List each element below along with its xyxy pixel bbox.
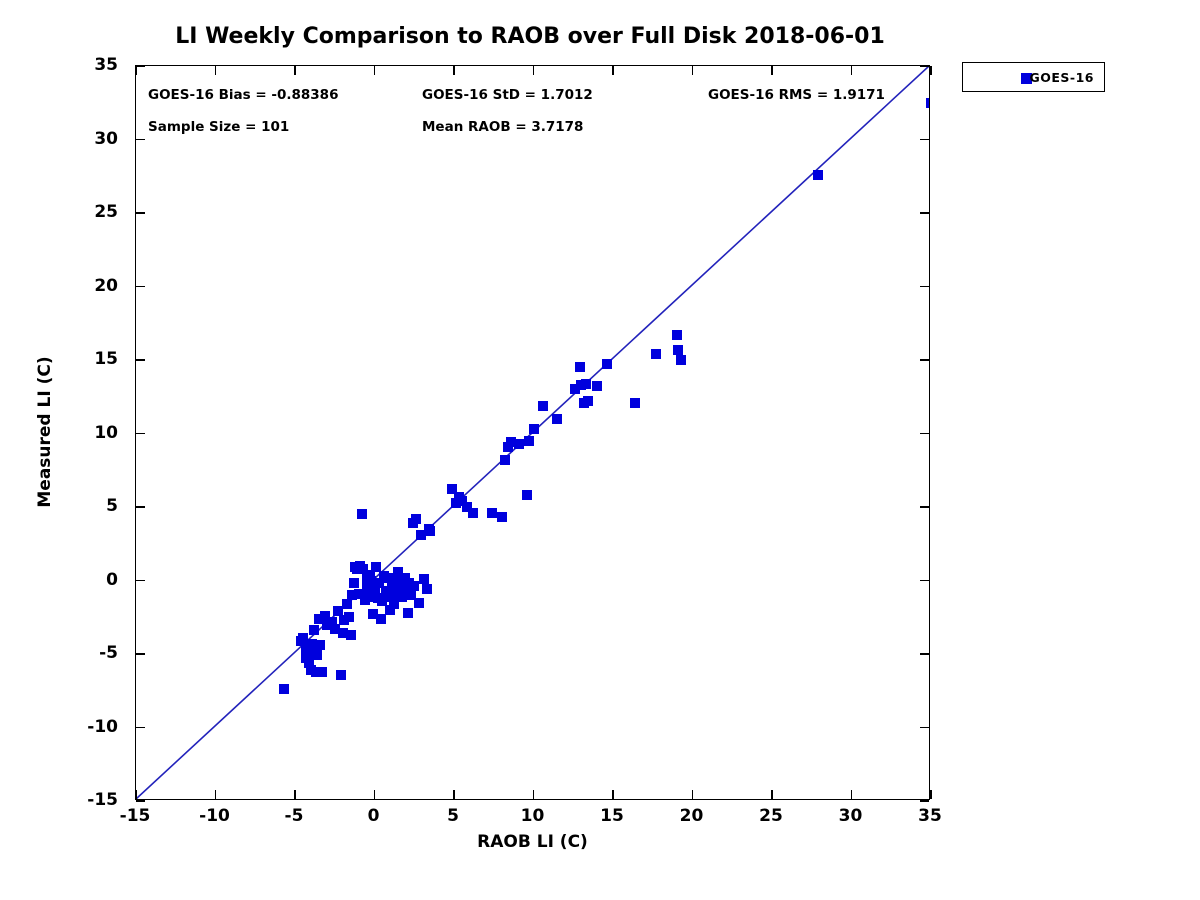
data-point xyxy=(813,170,823,180)
y-tick-20 xyxy=(136,286,145,288)
x-tick--5 xyxy=(294,790,296,799)
y-ticklabel-5: 5 xyxy=(106,496,118,516)
y-ticklabel-35: 35 xyxy=(94,55,118,75)
y-ticklabel--15: -15 xyxy=(87,790,118,810)
data-point xyxy=(672,330,682,340)
data-point xyxy=(529,424,539,434)
data-point xyxy=(926,98,929,108)
data-point xyxy=(409,581,419,591)
data-point xyxy=(349,578,359,588)
x-ticklabel--10: -10 xyxy=(199,806,230,826)
y-tick-30 xyxy=(920,139,929,141)
x-tick--15 xyxy=(135,790,137,799)
data-point xyxy=(403,608,413,618)
y-tick--10 xyxy=(136,727,145,729)
x-ticklabel-25: 25 xyxy=(759,806,783,826)
data-point xyxy=(583,396,593,406)
x-tick-15 xyxy=(612,66,614,75)
y-tick--10 xyxy=(920,727,929,729)
y-tick-5 xyxy=(920,506,929,508)
y-tick-35 xyxy=(920,65,929,67)
y-tick-25 xyxy=(920,212,929,214)
x-tick-20 xyxy=(692,66,694,75)
y-ticklabel-15: 15 xyxy=(94,349,118,369)
x-ticklabel-5: 5 xyxy=(447,806,459,826)
x-tick--15 xyxy=(135,66,137,75)
page-title: LI Weekly Comparison to RAOB over Full D… xyxy=(0,24,1060,49)
data-point xyxy=(342,599,352,609)
data-point xyxy=(425,526,435,536)
x-tick-5 xyxy=(453,66,455,75)
x-ticklabel--5: -5 xyxy=(285,806,304,826)
x-tick-25 xyxy=(771,790,773,799)
y-ticklabel-10: 10 xyxy=(94,423,118,443)
x-axis-label: RAOB LI (C) xyxy=(135,832,930,852)
data-point xyxy=(315,640,325,650)
chart-figure: LI Weekly Comparison to RAOB over Full D… xyxy=(0,0,1200,900)
y-tick-5 xyxy=(136,506,145,508)
data-point xyxy=(487,508,497,518)
x-tick-35 xyxy=(930,66,932,75)
x-tick--5 xyxy=(294,66,296,75)
y-ticklabel-25: 25 xyxy=(94,202,118,222)
data-point xyxy=(411,514,421,524)
x-tick-30 xyxy=(851,66,853,75)
data-point xyxy=(592,381,602,391)
data-point xyxy=(500,455,510,465)
y-tick-10 xyxy=(920,433,929,435)
y-ticklabel-0: 0 xyxy=(106,570,118,590)
data-point xyxy=(602,359,612,369)
data-point xyxy=(344,612,354,622)
y-tick-15 xyxy=(136,359,145,361)
y-tick-20 xyxy=(920,286,929,288)
y-tick-30 xyxy=(136,139,145,141)
data-point xyxy=(309,625,319,635)
x-tick--10 xyxy=(215,66,217,75)
x-tick-10 xyxy=(533,66,535,75)
data-point xyxy=(575,362,585,372)
x-ticklabel-35: 35 xyxy=(918,806,942,826)
data-point xyxy=(552,414,562,424)
data-point xyxy=(514,439,524,449)
data-point xyxy=(673,345,683,355)
x-ticklabel-10: 10 xyxy=(521,806,545,826)
y-ticklabel-30: 30 xyxy=(94,129,118,149)
y-tick--5 xyxy=(920,653,929,655)
data-point xyxy=(522,490,532,500)
y-tick--15 xyxy=(920,800,929,802)
x-ticklabel--15: -15 xyxy=(120,806,151,826)
data-point xyxy=(298,633,308,643)
data-point xyxy=(279,684,289,694)
legend: GOES-16 xyxy=(962,62,1105,92)
data-point xyxy=(676,355,686,365)
data-point xyxy=(317,667,327,677)
data-point xyxy=(497,512,507,522)
y-tick-25 xyxy=(136,212,145,214)
data-point xyxy=(524,436,534,446)
x-tick-0 xyxy=(374,790,376,799)
y-axis-label: Measured LI (C) xyxy=(35,356,55,507)
x-tick--10 xyxy=(215,790,217,799)
y-tick-35 xyxy=(136,65,145,67)
data-point xyxy=(376,614,386,624)
x-ticklabel-30: 30 xyxy=(839,806,863,826)
legend-label-goes16: GOES-16 xyxy=(1029,70,1094,85)
data-point xyxy=(468,508,478,518)
data-point xyxy=(651,349,661,359)
plot-area xyxy=(135,65,930,800)
y-ticklabel--5: -5 xyxy=(99,643,118,663)
x-tick-20 xyxy=(692,790,694,799)
data-point xyxy=(346,630,356,640)
x-tick-30 xyxy=(851,790,853,799)
data-point xyxy=(422,584,432,594)
y-ticklabel--10: -10 xyxy=(87,717,118,737)
y-tick--15 xyxy=(136,800,145,802)
y-tick-10 xyxy=(136,433,145,435)
data-point xyxy=(630,398,640,408)
y-tick--5 xyxy=(136,653,145,655)
data-point xyxy=(414,598,424,608)
data-point xyxy=(312,650,322,660)
x-tick-25 xyxy=(771,66,773,75)
y-tick-15 xyxy=(920,359,929,361)
data-point xyxy=(357,509,367,519)
x-tick-15 xyxy=(612,790,614,799)
y-ticklabel-20: 20 xyxy=(94,276,118,296)
x-tick-35 xyxy=(930,790,932,799)
data-point xyxy=(336,670,346,680)
data-point xyxy=(581,379,591,389)
x-tick-10 xyxy=(533,790,535,799)
x-tick-0 xyxy=(374,66,376,75)
y-tick-0 xyxy=(136,580,145,582)
y-tick-0 xyxy=(920,580,929,582)
data-point xyxy=(419,574,429,584)
data-layer xyxy=(136,66,929,799)
x-ticklabel-15: 15 xyxy=(600,806,624,826)
data-point xyxy=(538,401,548,411)
x-ticklabel-20: 20 xyxy=(680,806,704,826)
x-tick-5 xyxy=(453,790,455,799)
x-ticklabel-0: 0 xyxy=(368,806,380,826)
